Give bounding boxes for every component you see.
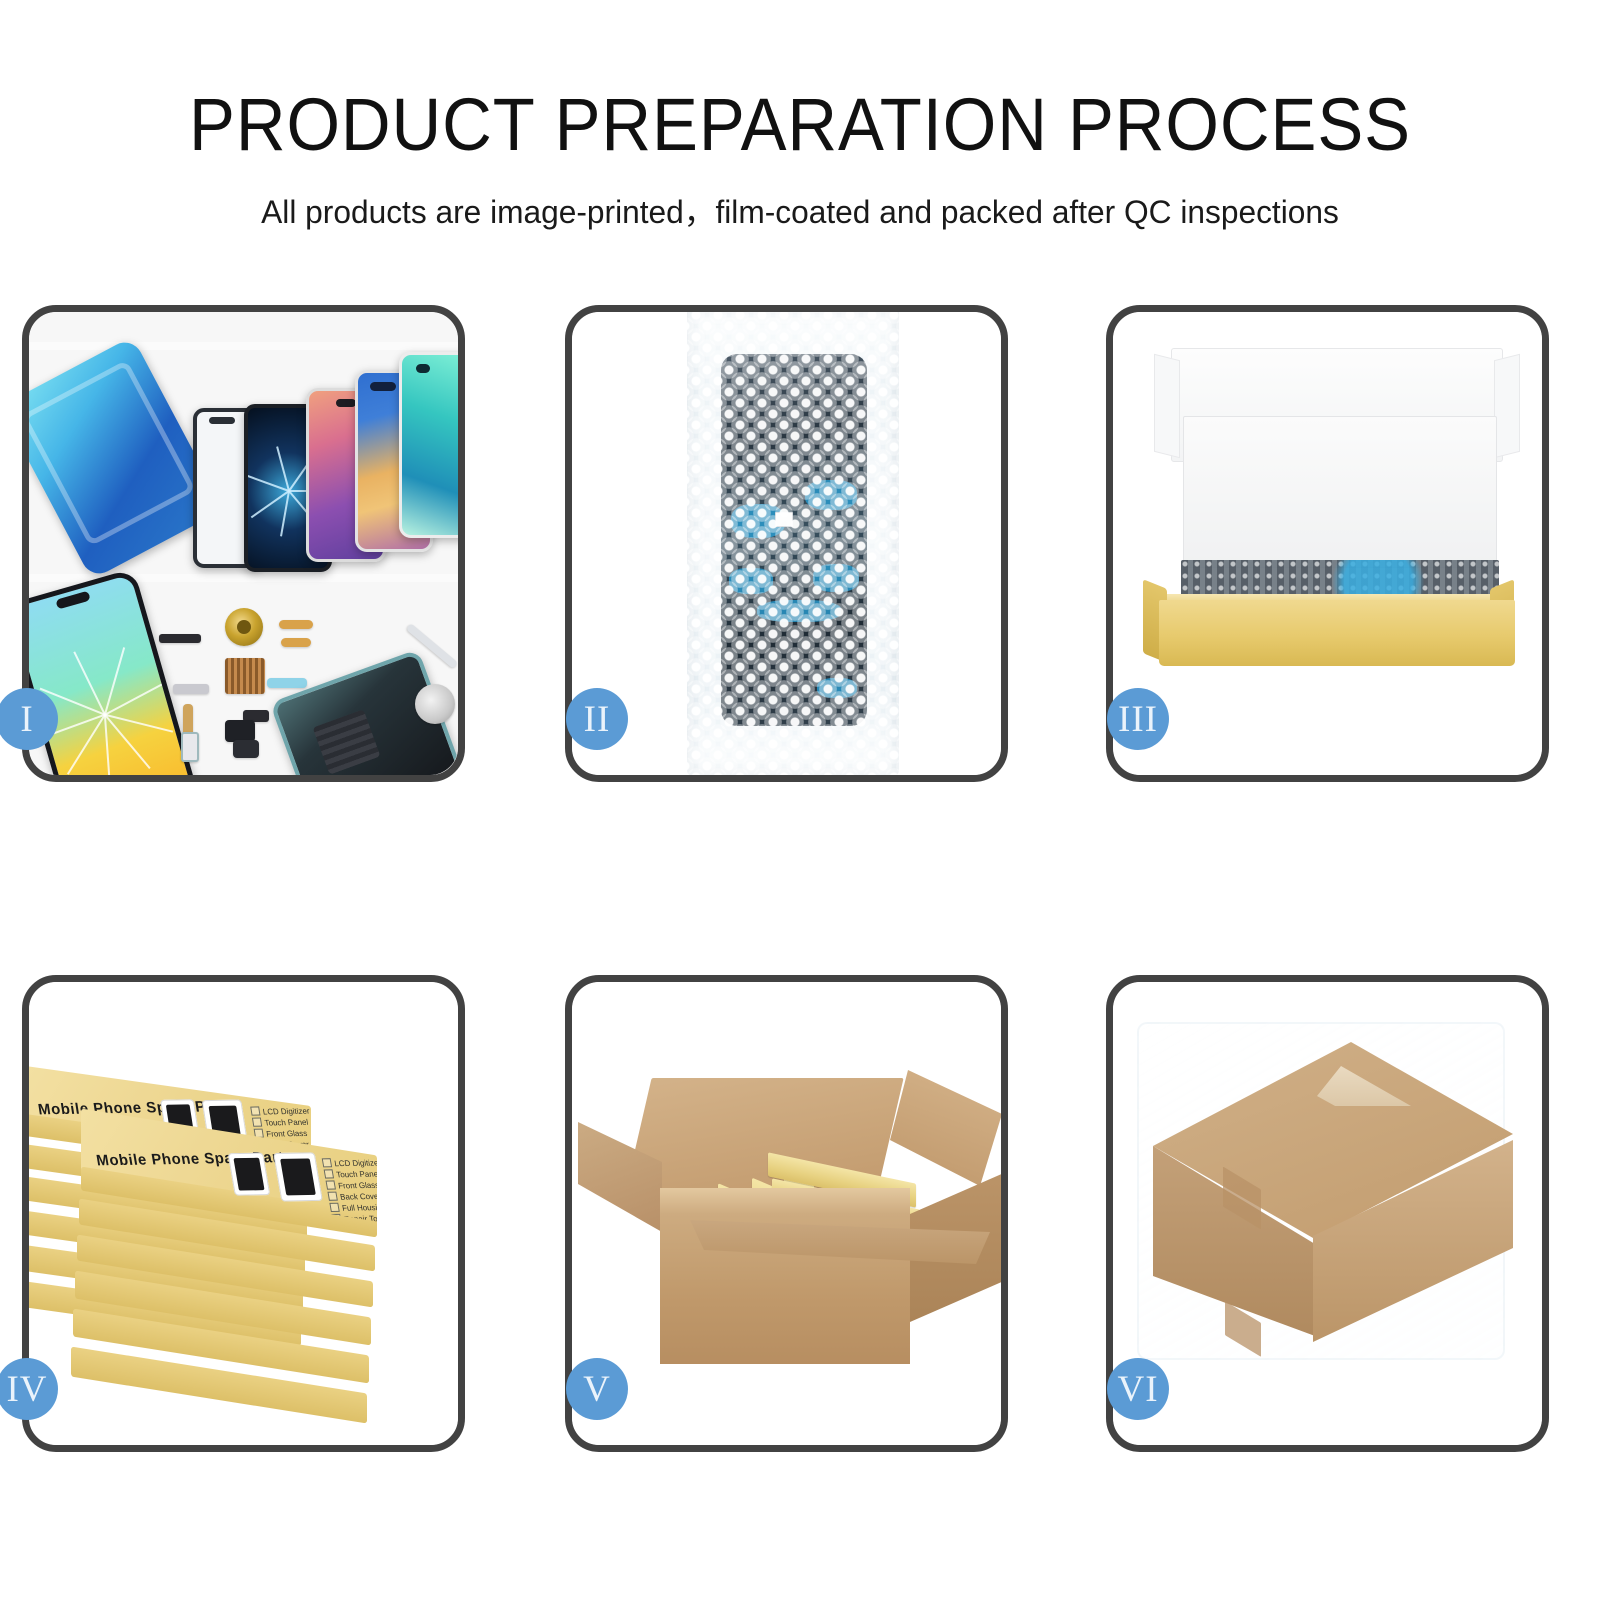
carton-right-flap [890, 1070, 1001, 1186]
component-icon [233, 740, 259, 758]
step-3-image [1113, 312, 1542, 775]
box-phone-image [273, 1152, 323, 1201]
infographic-page: PRODUCT PREPARATION PROCESS All products… [0, 0, 1600, 1600]
step-4-image: Mobile Phone Spare Parts LCD Digitizer T… [29, 982, 458, 1445]
carton-rim [660, 1188, 910, 1214]
connector-bar-icon [159, 634, 201, 643]
step-panel-1 [22, 305, 465, 782]
box-front-panel [1159, 600, 1515, 666]
phone-teal-icon [399, 352, 458, 538]
step-badge-3: III [1107, 688, 1169, 750]
step-panel-2 [565, 305, 1008, 782]
step-panel-3 [1106, 305, 1549, 782]
step-1-image [29, 312, 458, 775]
step-panel-4: Mobile Phone Spare Parts LCD Digitizer T… [22, 975, 465, 1452]
step-panel-6 [1106, 975, 1549, 1452]
step-badge-2: II [566, 688, 628, 750]
step-2-image [572, 312, 1001, 775]
box-checklist: LCD Digitizer Touch Panel Front Glass Ba… [322, 1157, 377, 1221]
polishing-brush-icon [415, 684, 455, 724]
flex-cable-icon [279, 620, 313, 629]
step-6-image [1113, 982, 1542, 1445]
box-phone-image [228, 1153, 271, 1196]
flex-cable-icon [281, 638, 311, 647]
step-badge-5: V [566, 1358, 628, 1420]
bubble-wrap-package [687, 312, 899, 775]
bubble-texture [687, 312, 899, 775]
flex-cable-icon [173, 684, 209, 694]
broken-screen-phone-icon [29, 568, 199, 775]
steps-grid: Mobile Phone Spare Parts LCD Digitizer T… [0, 0, 1600, 1600]
ic-chip-icon [225, 658, 265, 694]
wireless-charging-coil-icon [225, 608, 263, 646]
foam-liner [1183, 416, 1497, 568]
step-5-image [572, 982, 1001, 1445]
sim-tray-icon [181, 732, 199, 762]
step-panel-5 [565, 975, 1008, 1452]
step-badge-6: VI [1107, 1358, 1169, 1420]
component-icon [225, 720, 255, 742]
flex-cable-icon [267, 678, 307, 688]
